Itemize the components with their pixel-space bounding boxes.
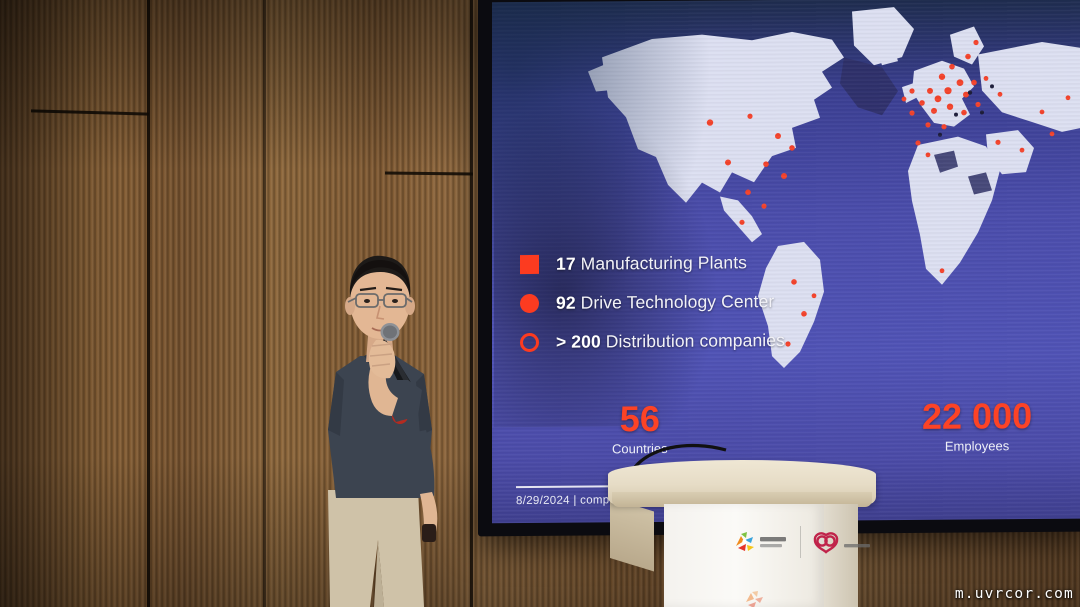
stat-employees: 22 000 Employees [922,398,1032,454]
red-heart-loop-logo-icon [810,528,876,556]
ring-circle-icon [520,333,539,352]
speaker-person [300,240,500,607]
podium-front-panel [664,504,824,607]
podium-side-panel [610,498,654,571]
legend-item: > 200 Distribution companies [520,330,785,353]
speaker-podium [608,452,876,607]
orange-partial-logo-icon [740,588,770,607]
stat-countries-number: 56 [612,401,668,437]
legend-item-label: Manufacturing Plants [581,252,747,273]
slide-legend: 17 Manufacturing Plants 92 Drive Technol… [520,252,785,371]
legend-item-value: > 200 [556,331,601,351]
podium-logo-divider [800,526,801,558]
legend-item-label: Drive Technology Center [581,291,775,313]
legend-item: 92 Drive Technology Center [520,291,785,314]
legend-item-label: Distribution companies [606,330,785,351]
legend-item: 17 Manufacturing Plants [520,252,785,275]
legend-item-value: 17 [556,254,576,274]
legend-item-value: 92 [556,293,576,313]
filled-square-icon [520,255,539,274]
stat-employees-number: 22 000 [922,398,1032,435]
legend-item-text: > 200 Distribution companies [556,330,785,353]
screenshot-root: 17 Manufacturing Plants 92 Drive Technol… [0,0,1080,607]
filled-circle-icon [520,294,539,313]
stat-employees-label: Employees [922,438,1032,454]
legend-item-text: 17 Manufacturing Plants [556,252,747,275]
suzhou-industrial-park-logo-icon [728,528,794,556]
watermark: m.uvrcor.com [955,586,1074,602]
legend-item-text: 92 Drive Technology Center [556,291,774,314]
presentation-slide: 17 Manufacturing Plants 92 Drive Technol… [492,0,1080,523]
handheld-object [422,524,436,542]
